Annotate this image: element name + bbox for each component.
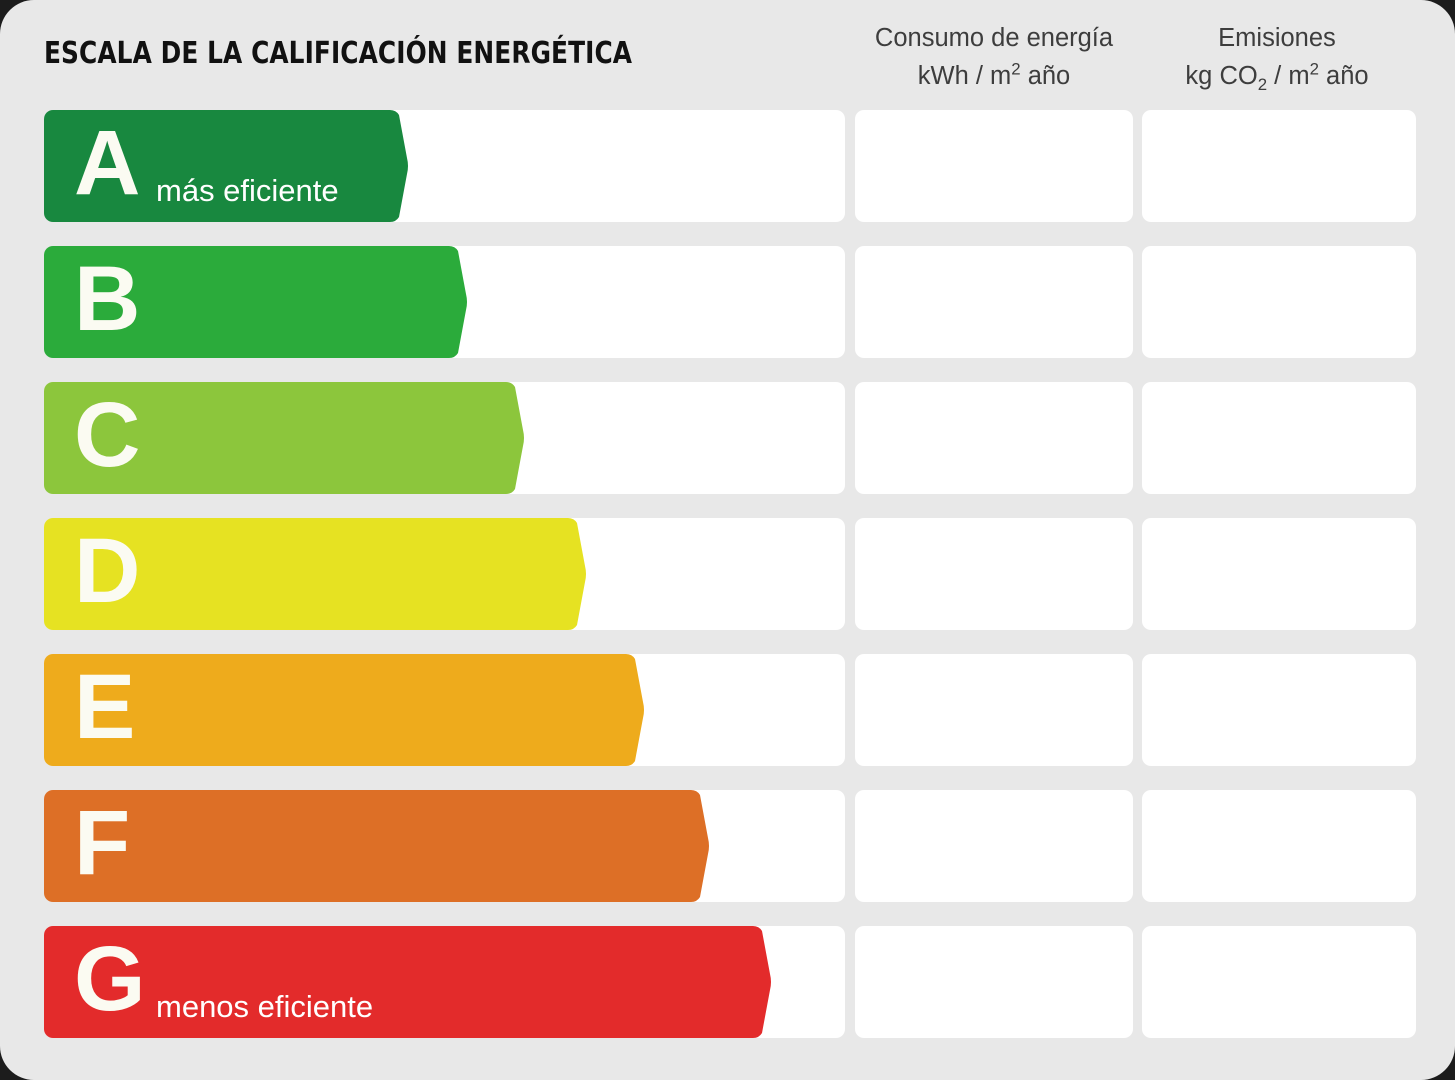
rating-band-b: B: [44, 246, 467, 358]
rating-band-d: D: [44, 518, 586, 630]
band-arrow-tip: [334, 110, 408, 222]
rating-letter: G: [74, 933, 145, 1025]
rating-row-f: F: [0, 784, 1455, 920]
rating-letter: E: [74, 661, 134, 753]
rating-row-c: C: [0, 376, 1455, 512]
rating-letter: F: [74, 797, 129, 889]
rating-row-g: Gmenos eficiente: [0, 920, 1455, 1056]
emisiones-value-box: [1142, 518, 1416, 630]
rating-efficiency-note: menos eficiente: [156, 989, 373, 1025]
column-header-emisiones-line1: Emisiones: [1138, 20, 1416, 58]
emisiones-value-box: [1142, 382, 1416, 494]
consumo-value-box: [855, 382, 1133, 494]
rating-band-c: C: [44, 382, 524, 494]
emisiones-unit-prefix: kg CO: [1185, 62, 1257, 90]
rating-rows: Amás eficienteBCDEFGmenos eficiente: [0, 104, 1455, 1056]
rating-band-e: E: [44, 654, 644, 766]
rating-row-d: D: [0, 512, 1455, 648]
consumo-value-box: [855, 790, 1133, 902]
rating-letter: D: [74, 525, 139, 617]
emisiones-unit-mid: / m: [1267, 62, 1310, 90]
emisiones-unit-exponent: 2: [1310, 59, 1319, 78]
rating-row-e: E: [0, 648, 1455, 784]
rating-row-b: B: [0, 240, 1455, 376]
consumo-value-box: [855, 654, 1133, 766]
consumo-value-box: [855, 110, 1133, 222]
consumo-value-box: [855, 926, 1133, 1038]
rating-letter: A: [74, 117, 139, 209]
band-arrow-tip: [393, 246, 467, 358]
column-header-consumo: Consumo de energía kWh / m2 año: [855, 20, 1133, 95]
column-header-emisiones-line2: kg CO2 / m2 año: [1138, 58, 1416, 98]
emisiones-value-box: [1142, 926, 1416, 1038]
emisiones-unit-suffix: año: [1319, 62, 1369, 90]
rating-row-a: Amás eficiente: [0, 104, 1455, 240]
band-body: [44, 790, 635, 902]
emisiones-value-box: [1142, 246, 1416, 358]
rating-efficiency-note: más eficiente: [156, 173, 339, 209]
band-arrow-tip: [450, 382, 524, 494]
column-header-consumo-line1: Consumo de energía: [855, 20, 1133, 58]
band-arrow-tip: [570, 654, 644, 766]
consumo-value-box: [855, 518, 1133, 630]
consumo-unit-exponent: 2: [1011, 59, 1020, 78]
emisiones-value-box: [1142, 790, 1416, 902]
emisiones-value-box: [1142, 110, 1416, 222]
rating-letter: B: [74, 253, 139, 345]
consumo-value-box: [855, 246, 1133, 358]
band-arrow-tip: [512, 518, 586, 630]
rating-letter: C: [74, 389, 139, 481]
emisiones-co2-subscript: 2: [1258, 75, 1267, 94]
band-arrow-tip: [635, 790, 709, 902]
column-header-emisiones: Emisiones kg CO2 / m2 año: [1138, 20, 1416, 98]
consumo-unit-suffix: año: [1021, 62, 1071, 90]
rating-band-a: Amás eficiente: [44, 110, 408, 222]
rating-band-g: Gmenos eficiente: [44, 926, 771, 1038]
energy-rating-card: ESCALA DE LA CALIFICACIÓN ENERGÉTICA Con…: [0, 0, 1455, 1080]
emisiones-value-box: [1142, 654, 1416, 766]
column-header-consumo-line2: kWh / m2 año: [855, 58, 1133, 96]
page-title: ESCALA DE LA CALIFICACIÓN ENERGÉTICA: [44, 36, 632, 71]
band-arrow-tip: [697, 926, 771, 1038]
card-header: ESCALA DE LA CALIFICACIÓN ENERGÉTICA Con…: [0, 0, 1455, 104]
consumo-unit-prefix: kWh / m: [918, 62, 1012, 90]
rating-band-f: F: [44, 790, 709, 902]
